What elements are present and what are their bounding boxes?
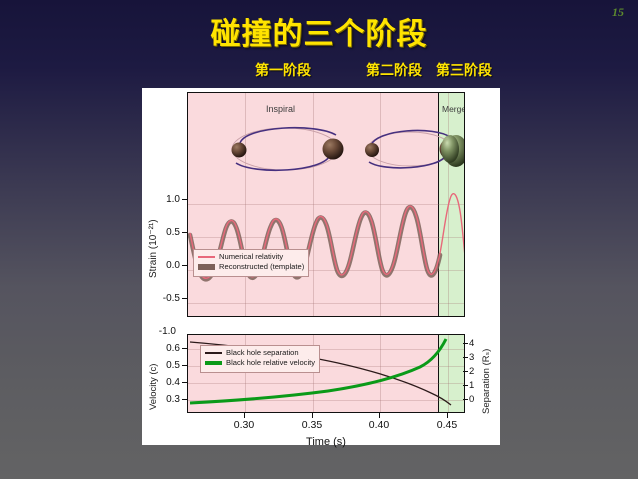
separation-ytick-1: 4 <box>469 338 485 349</box>
subtitle-phase-3: 第三阶段 <box>436 60 492 80</box>
strain-ytick-1: 1.0 <box>150 194 180 205</box>
time-axis-label: Time (s) <box>187 436 465 448</box>
legend-swatch-line <box>198 256 215 258</box>
strain-waveform <box>188 93 465 317</box>
separation-axis-label: Separation (Rₛ) <box>481 349 492 414</box>
phase-subtitles: 第一阶段 第二阶段 第三阶段 <box>0 60 638 80</box>
subtitle-phase-1: 第一阶段 <box>255 60 311 80</box>
xtick-1: 0.30 <box>224 419 264 431</box>
velocity-ytick-1: 0.6 <box>150 343 180 354</box>
figure-card: Inspiral Merger Ring- down <box>142 88 500 445</box>
subtitle-phase-2: 第二阶段 <box>366 60 422 80</box>
legend-swatch-velocity <box>205 361 222 365</box>
strain-axis-label: Strain (10⁻²¹) <box>148 219 159 278</box>
velocity-axis-label: Velocity (c) <box>148 364 159 410</box>
dynamics-panel: Black hole separation Black hole relativ… <box>187 334 465 413</box>
legend-item-separation: Black hole separation <box>205 348 315 358</box>
strain-legend: Numerical relativity Reconstructed (temp… <box>193 249 309 277</box>
dynamics-legend: Black hole separation Black hole relativ… <box>200 345 320 373</box>
legend-swatch-band <box>198 264 215 270</box>
legend-label-velocity: Black hole relative velocity <box>226 358 315 368</box>
strain-ytick-5: -1.0 <box>146 326 176 337</box>
xtick-3: 0.40 <box>359 419 399 431</box>
legend-item-velocity: Black hole relative velocity <box>205 358 315 368</box>
strain-ytick-4: -0.5 <box>150 293 180 304</box>
legend-swatch-separation <box>205 352 222 354</box>
page-title: 碰撞的三个阶段 <box>0 9 638 53</box>
legend-label-separation: Black hole separation <box>226 348 299 358</box>
xtick-4: 0.45 <box>427 419 467 431</box>
legend-label-numerical-relativity: Numerical relativity <box>219 252 283 262</box>
strain-panel: Inspiral Merger Ring- down <box>187 92 465 317</box>
slide: 15 碰撞的三个阶段 第一阶段 第二阶段 第三阶段 Inspiral Merge… <box>0 0 638 479</box>
legend-label-reconstructed: Reconstructed (template) <box>219 262 304 272</box>
xtick-2: 0.35 <box>292 419 332 431</box>
legend-item-numerical-relativity: Numerical relativity <box>198 252 304 262</box>
legend-item-reconstructed: Reconstructed (template) <box>198 262 304 272</box>
